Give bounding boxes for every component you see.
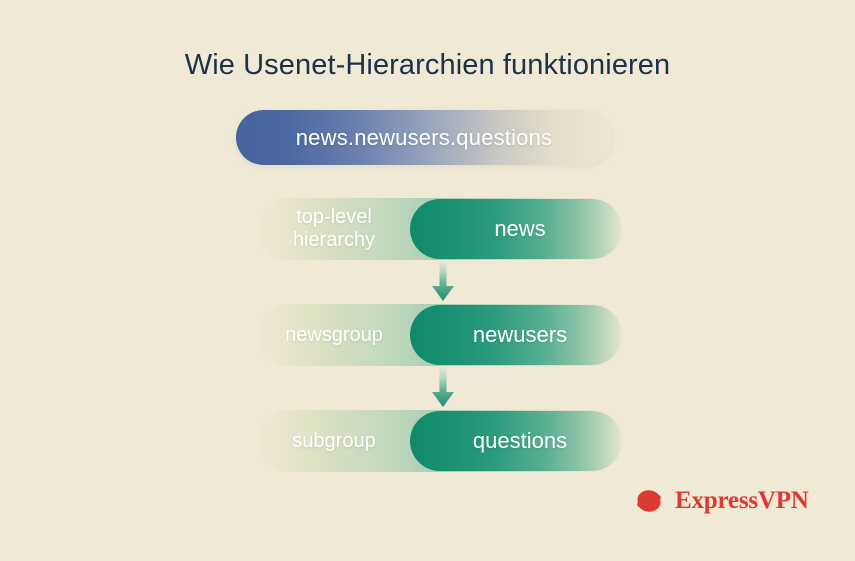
connector-row-2	[0, 366, 855, 410]
hierarchy-level-1: top-level hierarchy news	[0, 198, 855, 260]
down-arrow-icon	[428, 366, 458, 410]
infographic-canvas: Wie Usenet-Hierarchien funktionieren new…	[0, 0, 855, 561]
level-2-role-label: newsgroup	[256, 304, 412, 366]
expressvpn-wordmark: ExpressVPN	[675, 487, 809, 515]
expressvpn-logo: ExpressVPN	[632, 484, 809, 518]
level-2-value-label: newusers	[416, 304, 624, 366]
level-3-value-label: questions	[416, 410, 624, 472]
hierarchy-level-2: newsgroup newusers	[0, 304, 855, 366]
level-1-role-label: top-level hierarchy	[256, 198, 412, 260]
full-path-row: news.newusers.questions	[0, 105, 855, 165]
down-arrow-icon	[428, 260, 458, 304]
hierarchy-diagram: news.newusers.questions top-level hierar…	[0, 105, 855, 472]
expressvpn-e-icon	[632, 484, 666, 518]
connector-row-1	[0, 260, 855, 304]
level-1-value-label: news	[416, 198, 624, 260]
full-path-label: news.newusers.questions	[236, 110, 612, 165]
hierarchy-level-3: subgroup questions	[0, 410, 855, 472]
page-title: Wie Usenet-Hierarchien funktionieren	[0, 46, 855, 84]
level-3-role-label: subgroup	[256, 410, 412, 472]
